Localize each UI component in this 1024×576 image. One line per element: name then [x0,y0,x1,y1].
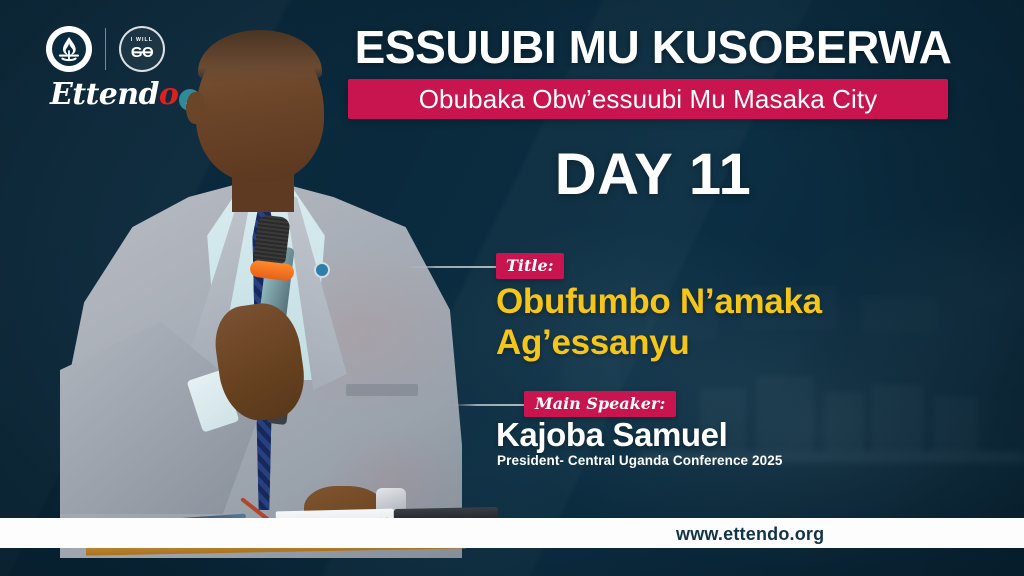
headline-block: ESSUUBI MU KUSOBERWA [330,24,976,72]
subtitle-text: Obubaka Obw’essuubi Mu Masaka City [419,84,878,115]
speaker-role: President- Central Uganda Conference 202… [497,454,977,468]
title-connector-line [404,266,496,268]
sermon-title-line1: Obufumbo N’amaka [496,282,976,323]
speaker-connector-line [452,404,524,406]
speaker-breast-pocket [346,384,418,396]
page-title: ESSUUBI MU KUSOBERWA [330,24,976,72]
website-url[interactable]: www.ettendo.org [676,524,824,545]
sermon-title-line2: Ag’essanyu [496,323,976,364]
sermon-title: Obufumbo N’amaka Ag’essanyu [496,282,976,364]
day-label: DAY 11 [330,146,976,204]
title-tag-badge: Title: [496,253,564,279]
speaker-ear [186,92,204,124]
event-poster: I WILL GO Ettendo [0,0,1024,576]
main-speaker-tag-badge: Main Speaker: [524,391,676,417]
microphone-head [253,214,290,264]
subtitle-banner: Obubaka Obw’essuubi Mu Masaka City [348,79,948,119]
speaker-lapel-pin [314,262,330,278]
footer-bar [0,518,1024,548]
speaker-hair [198,30,322,84]
speaker-name: Kajoba Samuel [496,418,976,451]
